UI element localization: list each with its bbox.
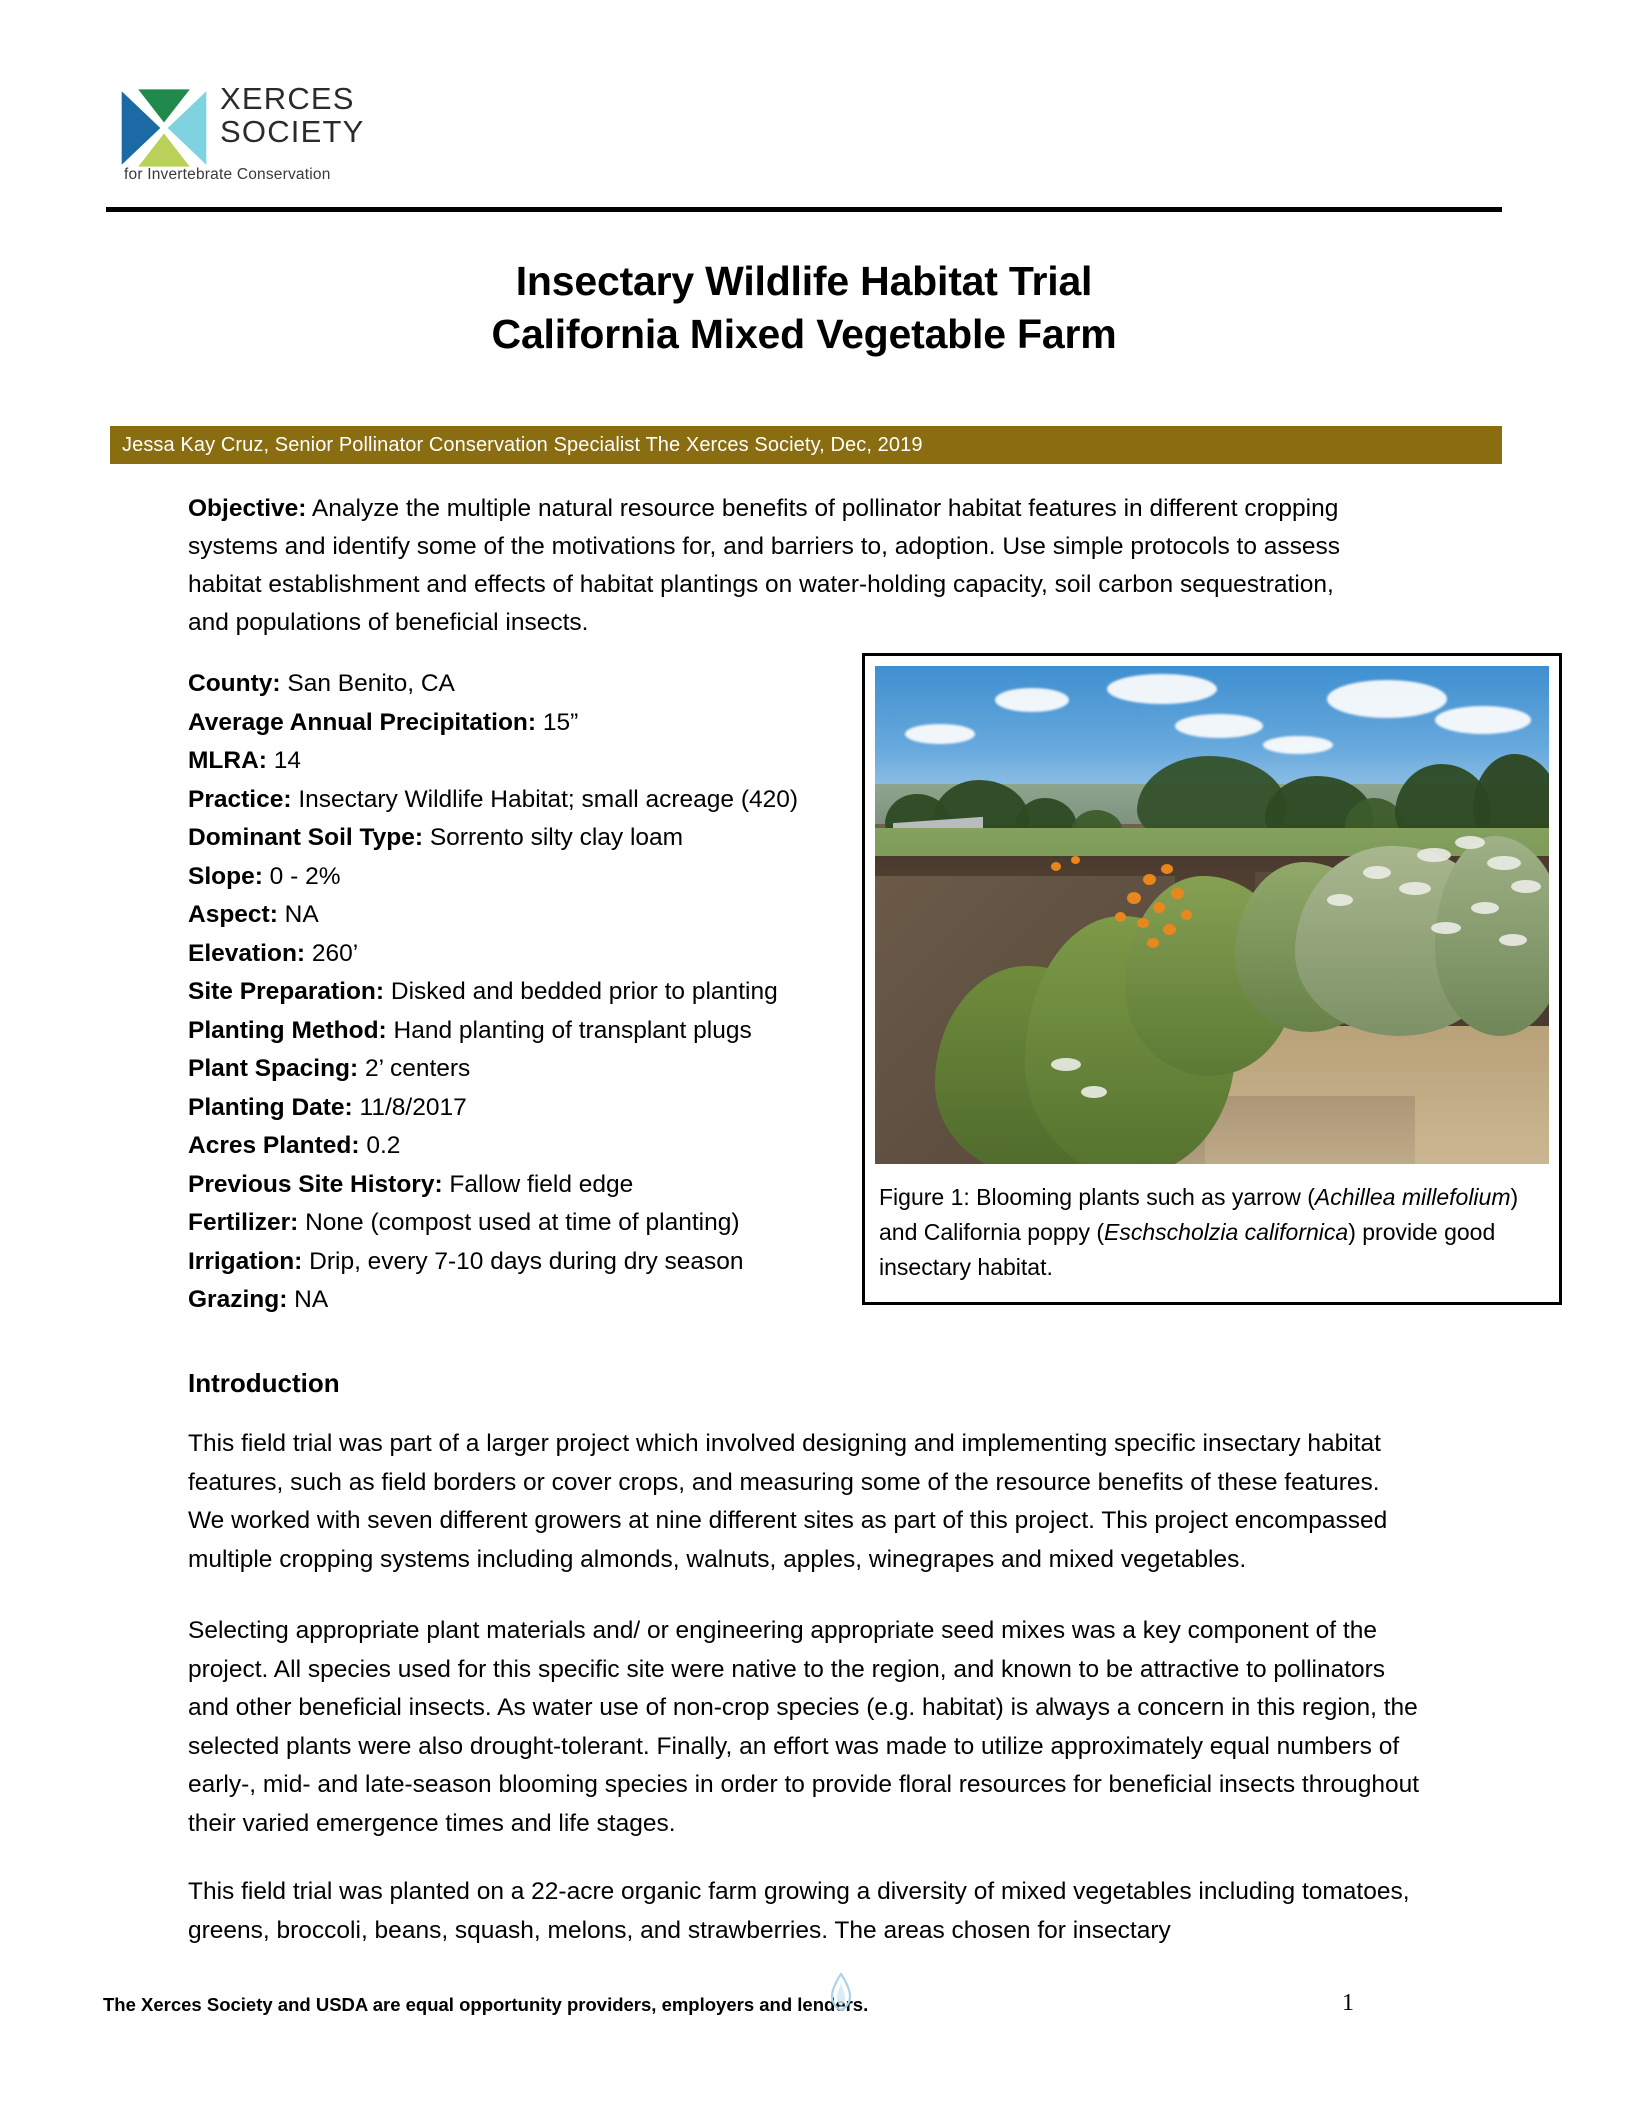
site-detail-label: Acres Planted:	[188, 1132, 360, 1159]
figure-1-photo	[875, 666, 1549, 1164]
logo-tagline: for Invertebrate Conservation	[124, 166, 331, 184]
site-detail-row: Planting Method: Hand planting of transp…	[188, 1012, 878, 1051]
objective-text: Analyze the multiple natural resource be…	[188, 495, 1340, 636]
site-detail-row: Plant Spacing: 2’ centers	[188, 1050, 878, 1089]
logo-word-xerces: XERCES	[220, 82, 364, 115]
site-detail-value: 0 - 2%	[263, 863, 341, 890]
byline-text: Jessa Kay Cruz, Senior Pollinator Conser…	[122, 432, 923, 458]
site-detail-label: Fertilizer:	[188, 1209, 298, 1236]
photo-cloud	[1327, 680, 1447, 718]
water-drop-icon	[828, 1972, 854, 2012]
site-detail-row: Slope: 0 - 2%	[188, 858, 878, 897]
photo-cloud	[905, 724, 975, 744]
objective-paragraph: Objective: Analyze the multiple natural …	[188, 490, 1376, 642]
header-divider	[106, 207, 1502, 212]
photo-cloud	[1107, 674, 1217, 704]
site-detail-value: 15”	[536, 709, 578, 736]
site-detail-value: NA	[278, 901, 319, 928]
site-detail-row: County: San Benito, CA	[188, 665, 878, 704]
intro-paragraph-2: Selecting appropriate plant materials an…	[188, 1612, 1420, 1843]
site-detail-row: Fertilizer: None (compost used at time o…	[188, 1204, 878, 1243]
site-detail-label: Dominant Soil Type:	[188, 824, 423, 851]
site-details-list: County: San Benito, CAAverage Annual Pre…	[188, 665, 878, 1320]
site-detail-label: Average Annual Precipitation:	[188, 709, 536, 736]
caption-prefix: Figure 1: Blooming plants such as yarrow…	[879, 1184, 1315, 1210]
site-detail-value: Insectary Wildlife Habitat; small acreag…	[292, 786, 799, 813]
site-detail-row: Irrigation: Drip, every 7-10 days during…	[188, 1243, 878, 1282]
page-number: 1	[1318, 1990, 1378, 2017]
section-heading-introduction: Introduction	[188, 1368, 340, 1399]
site-detail-value: 14	[267, 747, 301, 774]
site-detail-value: NA	[287, 1286, 328, 1313]
site-detail-value: San Benito, CA	[281, 670, 455, 697]
site-detail-label: Grazing:	[188, 1286, 287, 1313]
figure-1-caption: Figure 1: Blooming plants such as yarrow…	[879, 1180, 1543, 1285]
byline-bar: Jessa Kay Cruz, Senior Pollinator Conser…	[110, 426, 1502, 464]
site-detail-label: Practice:	[188, 786, 292, 813]
site-detail-label: Slope:	[188, 863, 263, 890]
site-detail-row: Dominant Soil Type: Sorrento silty clay …	[188, 819, 878, 858]
site-detail-label: MLRA:	[188, 747, 267, 774]
xerces-x-mark-icon	[118, 82, 210, 174]
photo-cloud	[1263, 736, 1333, 754]
document-page: XERCES SOCIETY for Invertebrate Conserva…	[0, 0, 1641, 2112]
intro-paragraph-1: This field trial was part of a larger pr…	[188, 1425, 1420, 1579]
site-detail-row: Grazing: NA	[188, 1281, 878, 1320]
site-detail-row: Average Annual Precipitation: 15”	[188, 704, 878, 743]
site-detail-row: Site Preparation: Disked and bedded prio…	[188, 973, 878, 1012]
site-detail-row: Aspect: NA	[188, 896, 878, 935]
caption-species-1: Achillea millefolium	[1315, 1184, 1511, 1210]
site-detail-value: Hand planting of transplant plugs	[387, 1017, 752, 1044]
photo-cloud	[995, 688, 1069, 712]
site-detail-value: Disked and bedded prior to planting	[384, 978, 778, 1005]
intro-paragraph-3: This field trial was planted on a 22-acr…	[188, 1873, 1420, 1950]
logo-word-society: SOCIETY	[220, 115, 364, 148]
site-detail-value: Drip, every 7-10 days during dry season	[302, 1248, 743, 1275]
site-detail-label: Elevation:	[188, 940, 305, 967]
footer-disclaimer: The Xerces Society and USDA are equal op…	[103, 1994, 868, 2016]
site-detail-value: Sorrento silty clay loam	[423, 824, 683, 851]
caption-species-2: Eschscholzia californica	[1104, 1219, 1348, 1245]
site-detail-label: Plant Spacing:	[188, 1055, 358, 1082]
site-detail-row: Practice: Insectary Wildlife Habitat; sm…	[188, 781, 878, 820]
site-detail-label: Planting Date:	[188, 1094, 353, 1121]
site-detail-label: Previous Site History:	[188, 1171, 443, 1198]
site-detail-value: None (compost used at time of planting)	[298, 1209, 739, 1236]
photo-cloud	[1175, 714, 1263, 738]
site-detail-value: 260’	[305, 940, 358, 967]
site-detail-value: 11/8/2017	[353, 1094, 467, 1121]
page-title: Insectary Wildlife Habitat Trial Califor…	[106, 255, 1502, 361]
title-line-2: California Mixed Vegetable Farm	[106, 308, 1502, 361]
site-detail-label: Site Preparation:	[188, 978, 384, 1005]
site-detail-label: Planting Method:	[188, 1017, 387, 1044]
site-detail-label: County:	[188, 670, 281, 697]
photo-cloud	[1435, 706, 1531, 734]
objective-label: Objective:	[188, 495, 306, 522]
site-detail-row: Elevation: 260’	[188, 935, 878, 974]
site-detail-label: Irrigation:	[188, 1248, 302, 1275]
site-detail-row: Planting Date: 11/8/2017	[188, 1089, 878, 1128]
site-detail-value: 2’ centers	[358, 1055, 470, 1082]
site-detail-label: Aspect:	[188, 901, 278, 928]
site-detail-value: 0.2	[360, 1132, 401, 1159]
title-line-1: Insectary Wildlife Habitat Trial	[106, 255, 1502, 308]
site-detail-value: Fallow field edge	[443, 1171, 634, 1198]
site-detail-row: Previous Site History: Fallow field edge	[188, 1166, 878, 1205]
figure-1: Figure 1: Blooming plants such as yarrow…	[862, 653, 1562, 1305]
logo-wordmark: XERCES SOCIETY	[220, 82, 364, 148]
site-detail-row: MLRA: 14	[188, 742, 878, 781]
xerces-logo: XERCES SOCIETY for Invertebrate Conserva…	[118, 78, 388, 188]
site-detail-row: Acres Planted: 0.2	[188, 1127, 878, 1166]
